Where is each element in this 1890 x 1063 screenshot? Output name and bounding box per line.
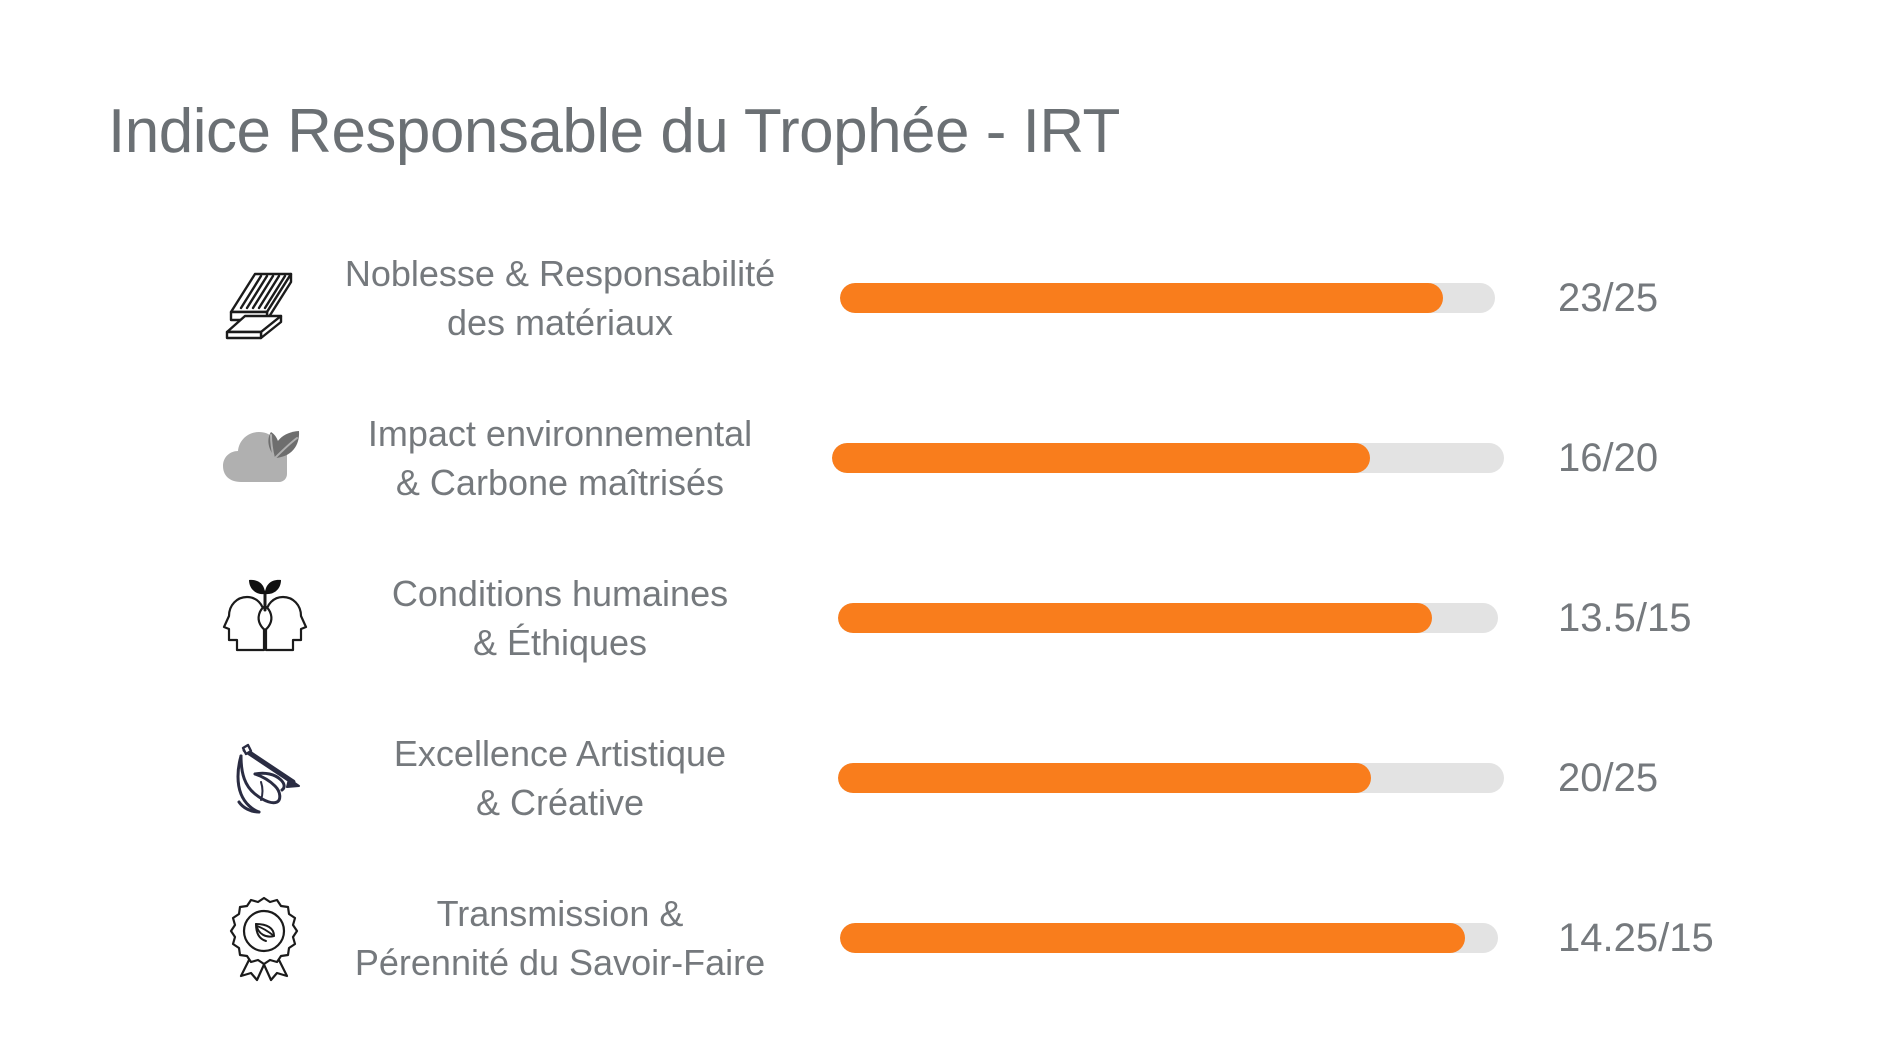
score-value: 14.25/15 <box>1558 858 1714 1018</box>
criteria-label-line1: Excellence Artistique <box>394 729 726 778</box>
criteria-label-line2: & Éthiques <box>473 618 647 667</box>
score-value: 13.5/15 <box>1558 538 1691 698</box>
score-value: 16/20 <box>1558 378 1658 538</box>
criteria-label: Noblesse & Responsabilité des matériaux <box>300 218 820 378</box>
progress-bar-container <box>838 538 1498 698</box>
page-title: Indice Responsable du Trophée - IRT <box>108 96 1120 167</box>
progress-bar-container <box>832 378 1504 538</box>
criteria-label-line2: & Carbone maîtrisés <box>396 458 724 507</box>
progress-fill <box>838 603 1432 633</box>
score-value: 20/25 <box>1558 698 1658 858</box>
criteria-label-line2: & Créative <box>476 778 644 827</box>
progress-track <box>840 283 1495 313</box>
criteria-row[interactable]: Conditions humaines & Éthiques 13.5/15 <box>0 538 1890 698</box>
progress-fill <box>840 923 1465 953</box>
criteria-row[interactable]: Noblesse & Responsabilité des matériaux … <box>0 218 1890 378</box>
progress-track <box>832 443 1504 473</box>
progress-fill <box>838 763 1371 793</box>
progress-track <box>840 923 1498 953</box>
progress-fill <box>832 443 1370 473</box>
criteria-row[interactable]: Impact environnemental & Carbone maîtris… <box>0 378 1890 538</box>
criteria-row[interactable]: Excellence Artistique & Créative 20/25 <box>0 698 1890 858</box>
criteria-label: Conditions humaines & Éthiques <box>300 538 820 698</box>
progress-bar-container <box>840 858 1498 1018</box>
criteria-label-line1: Noblesse & Responsabilité <box>345 249 775 298</box>
slide-canvas: Indice Responsable du Trophée - IRT Nobl… <box>0 0 1890 1063</box>
criteria-list: Noblesse & Responsabilité des matériaux … <box>0 218 1890 1018</box>
score-value: 23/25 <box>1558 218 1658 378</box>
progress-track <box>838 603 1498 633</box>
criteria-label-line1: Conditions humaines <box>392 569 728 618</box>
criteria-label-line1: Transmission & <box>437 889 684 938</box>
criteria-label-line1: Impact environnemental <box>368 409 752 458</box>
progress-bar-container <box>838 698 1504 858</box>
progress-bar-container <box>840 218 1495 378</box>
progress-fill <box>840 283 1443 313</box>
criteria-label: Impact environnemental & Carbone maîtris… <box>300 378 820 538</box>
progress-track <box>838 763 1504 793</box>
criteria-label-line2: Pérennité du Savoir-Faire <box>355 938 765 987</box>
criteria-label: Excellence Artistique & Créative <box>300 698 820 858</box>
criteria-label-line2: des matériaux <box>447 298 673 347</box>
criteria-label: Transmission & Pérennité du Savoir-Faire <box>300 858 820 1018</box>
criteria-row[interactable]: Transmission & Pérennité du Savoir-Faire… <box>0 858 1890 1018</box>
